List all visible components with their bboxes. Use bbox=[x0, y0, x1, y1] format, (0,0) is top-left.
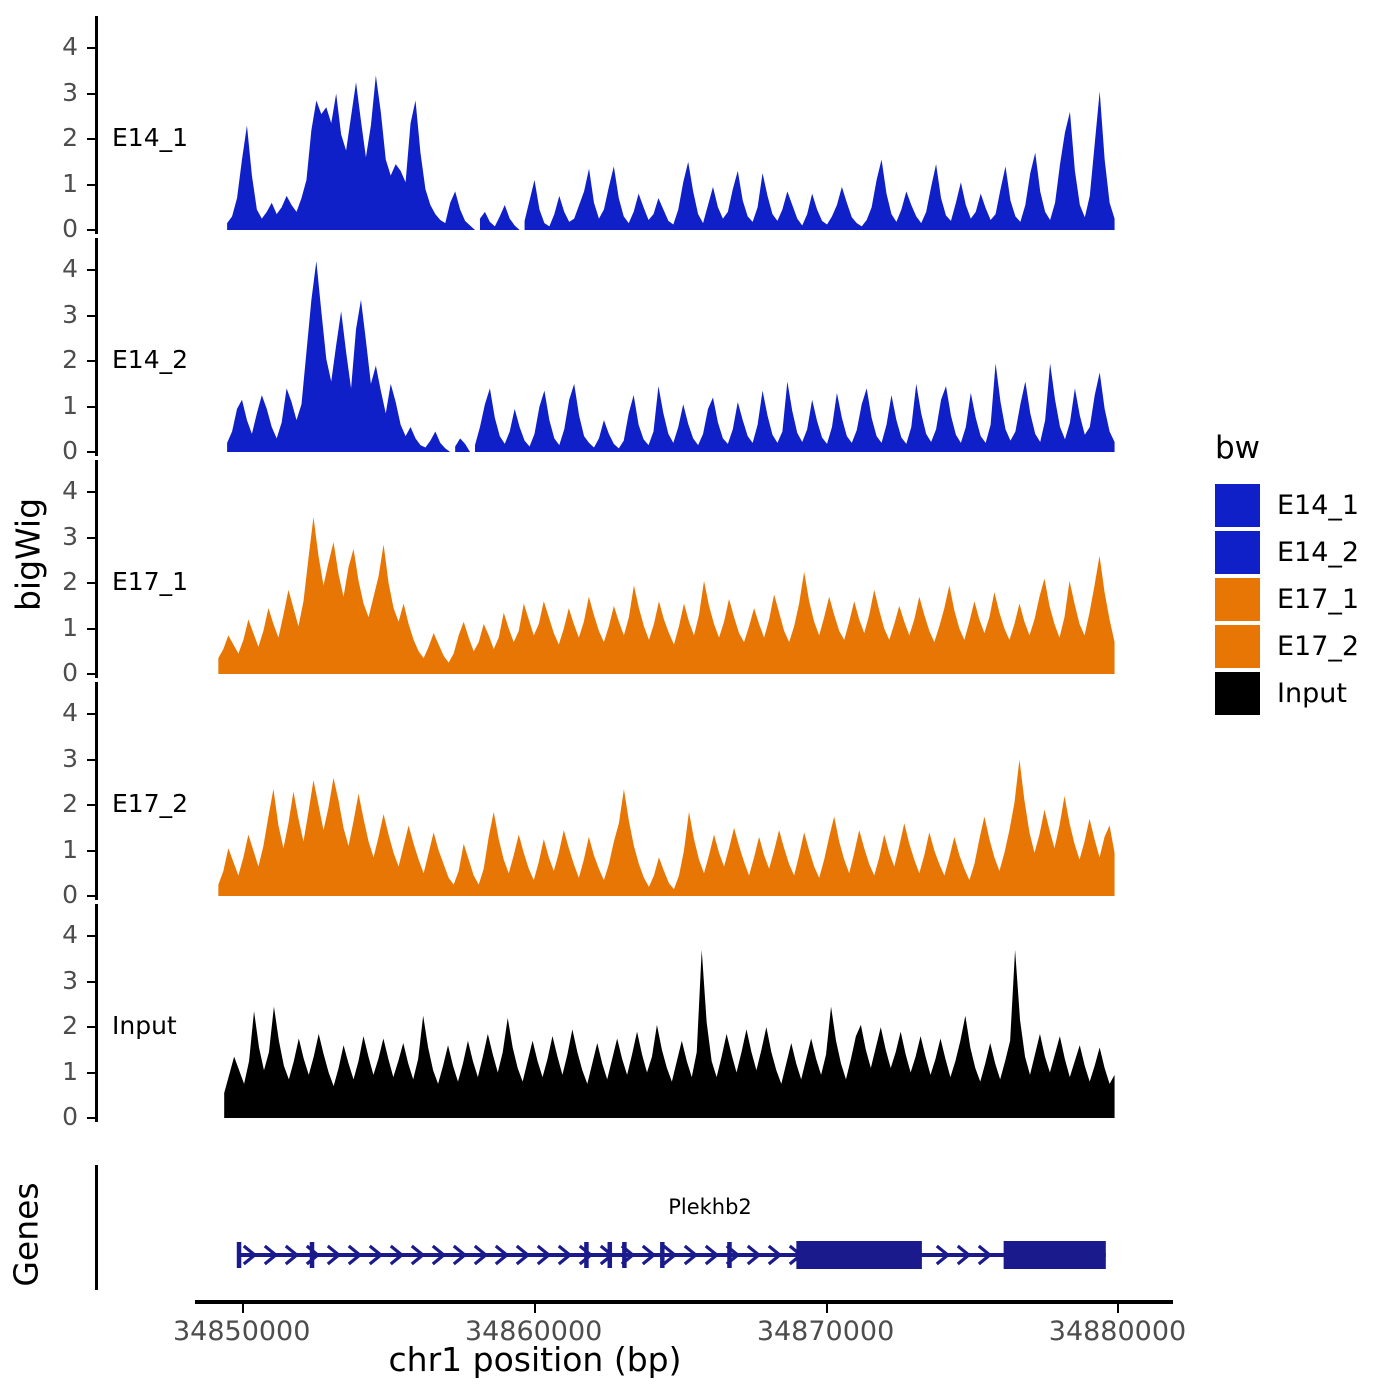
y-tick bbox=[87, 229, 95, 231]
y-tick-label: 2 bbox=[22, 123, 78, 152]
legend-item-input[interactable]: Input bbox=[1215, 670, 1359, 717]
track-label-e14_1: E14_1 bbox=[112, 123, 188, 152]
y-tick bbox=[87, 582, 95, 584]
signal-area bbox=[218, 517, 1114, 674]
y-tick-label: 3 bbox=[22, 966, 78, 995]
legend-color-swatch bbox=[1215, 625, 1260, 668]
x-tick bbox=[534, 1304, 536, 1313]
gene-exon-tick bbox=[584, 1242, 589, 1268]
signal-area bbox=[480, 205, 520, 230]
legend-item-label: E17_1 bbox=[1277, 584, 1359, 615]
y-tick bbox=[87, 935, 95, 937]
legend-item-e14_1[interactable]: E14_1 bbox=[1215, 482, 1359, 529]
legend-color-swatch bbox=[1215, 578, 1260, 621]
signal-plot-e14_1[interactable] bbox=[195, 30, 1180, 236]
legend-items: E14_1E14_2E17_1E17_2Input bbox=[1215, 482, 1359, 717]
y-tick-label: 3 bbox=[22, 522, 78, 551]
signal-area bbox=[218, 760, 1114, 896]
y-tick bbox=[87, 713, 95, 715]
legend-item-label: E17_2 bbox=[1277, 631, 1359, 662]
gene-panel: Plekhb2 bbox=[0, 1160, 1200, 1300]
signal-plot-e14_2[interactable] bbox=[195, 252, 1180, 458]
y-tick bbox=[87, 628, 95, 630]
gene-exon bbox=[796, 1241, 922, 1269]
y-tick bbox=[87, 269, 95, 271]
x-axis-title: chr1 position (bp) bbox=[0, 1340, 1235, 1379]
y-axis-line bbox=[95, 16, 98, 234]
y-tick-label: 4 bbox=[22, 254, 78, 283]
track-panel-e17_1: 01234E17_1 bbox=[0, 474, 1200, 686]
legend-title: bw bbox=[1215, 430, 1359, 466]
track-label-e17_2: E17_2 bbox=[112, 789, 188, 818]
gene-exon-tick bbox=[660, 1242, 665, 1268]
y-tick-label: 1 bbox=[22, 613, 78, 642]
y-tick bbox=[87, 1117, 95, 1119]
track-label-input: Input bbox=[112, 1011, 177, 1040]
y-tick-label: 4 bbox=[22, 920, 78, 949]
y-tick bbox=[87, 315, 95, 317]
signal-plot-e17_1[interactable] bbox=[195, 474, 1180, 680]
track-label-e17_1: E17_1 bbox=[112, 567, 188, 596]
legend: bw E14_1E14_2E17_1E17_2Input bbox=[1215, 430, 1359, 717]
legend-item-label: Input bbox=[1277, 678, 1347, 709]
signal-area bbox=[224, 950, 1114, 1118]
y-axis-line bbox=[95, 238, 98, 456]
y-tick bbox=[87, 1026, 95, 1028]
legend-item-e17_1[interactable]: E17_1 bbox=[1215, 576, 1359, 623]
y-tick-label: 1 bbox=[22, 169, 78, 198]
track-label-e14_2: E14_2 bbox=[112, 345, 188, 374]
y-tick bbox=[87, 184, 95, 186]
track-panel-e14_2: 01234E14_2 bbox=[0, 252, 1200, 464]
y-tick bbox=[87, 47, 95, 49]
legend-color-swatch bbox=[1215, 531, 1260, 574]
signal-area bbox=[227, 261, 450, 452]
track-panel-input: 01234Input bbox=[0, 918, 1200, 1130]
y-tick bbox=[87, 981, 95, 983]
gene-panel-axis bbox=[95, 1165, 98, 1290]
signal-plot-e17_2[interactable] bbox=[195, 696, 1180, 902]
y-tick-label: 3 bbox=[22, 300, 78, 329]
signal-area bbox=[525, 91, 1115, 230]
y-tick bbox=[87, 804, 95, 806]
y-tick-label: 3 bbox=[22, 744, 78, 773]
legend-item-e17_2[interactable]: E17_2 bbox=[1215, 623, 1359, 670]
track-panel-e14_1: 01234E14_1 bbox=[0, 30, 1200, 242]
y-tick-label: 0 bbox=[22, 214, 78, 243]
legend-item-label: E14_2 bbox=[1277, 537, 1359, 568]
y-tick-label: 2 bbox=[22, 567, 78, 596]
legend-color-swatch bbox=[1215, 672, 1260, 715]
x-axis-line bbox=[195, 1300, 1173, 1304]
y-tick-label: 1 bbox=[22, 1057, 78, 1086]
gene-exon-tick bbox=[727, 1242, 732, 1268]
y-tick bbox=[87, 93, 95, 95]
signal-area bbox=[455, 438, 470, 452]
y-tick bbox=[87, 850, 95, 852]
gene-exon-tick bbox=[310, 1242, 315, 1268]
y-tick-label: 0 bbox=[22, 436, 78, 465]
y-tick bbox=[87, 673, 95, 675]
gene-exon-tick bbox=[237, 1242, 242, 1268]
gene-model-plot[interactable] bbox=[195, 1160, 1180, 1300]
y-tick-label: 1 bbox=[22, 391, 78, 420]
y-axis-line bbox=[95, 682, 98, 900]
y-tick-label: 2 bbox=[22, 1011, 78, 1040]
x-tick bbox=[242, 1304, 244, 1313]
gene-exon bbox=[1004, 1241, 1106, 1269]
y-tick-label: 4 bbox=[22, 698, 78, 727]
x-tick bbox=[1117, 1304, 1119, 1313]
track-panel-e17_2: 01234E17_2 bbox=[0, 696, 1200, 908]
x-tick bbox=[826, 1304, 828, 1313]
gene-exon-tick bbox=[608, 1242, 613, 1268]
y-tick bbox=[87, 360, 95, 362]
y-tick-label: 4 bbox=[22, 32, 78, 61]
y-tick-label: 0 bbox=[22, 880, 78, 909]
y-axis-line bbox=[95, 904, 98, 1122]
y-tick-label: 2 bbox=[22, 789, 78, 818]
y-tick-label: 2 bbox=[22, 345, 78, 374]
signal-plot-input[interactable] bbox=[195, 918, 1180, 1124]
y-tick-label: 4 bbox=[22, 476, 78, 505]
y-axis-line bbox=[95, 460, 98, 678]
y-tick bbox=[87, 138, 95, 140]
legend-item-label: E14_1 bbox=[1277, 490, 1359, 521]
y-tick-label: 0 bbox=[22, 1102, 78, 1131]
legend-color-swatch bbox=[1215, 484, 1260, 527]
signal-area bbox=[227, 75, 475, 230]
y-tick bbox=[87, 406, 95, 408]
y-tick-label: 0 bbox=[22, 658, 78, 687]
y-tick bbox=[87, 451, 95, 453]
figure-root: bigWig Genes 01234E14_101234E14_201234E1… bbox=[0, 0, 1400, 1400]
legend-item-e14_2[interactable]: E14_2 bbox=[1215, 529, 1359, 576]
y-tick bbox=[87, 537, 95, 539]
y-tick-label: 1 bbox=[22, 835, 78, 864]
y-tick bbox=[87, 491, 95, 493]
y-tick bbox=[87, 759, 95, 761]
y-tick bbox=[87, 1072, 95, 1074]
y-tick-label: 3 bbox=[22, 78, 78, 107]
gene-exon-tick bbox=[622, 1242, 627, 1268]
y-tick bbox=[87, 895, 95, 897]
signal-area bbox=[475, 363, 1115, 452]
